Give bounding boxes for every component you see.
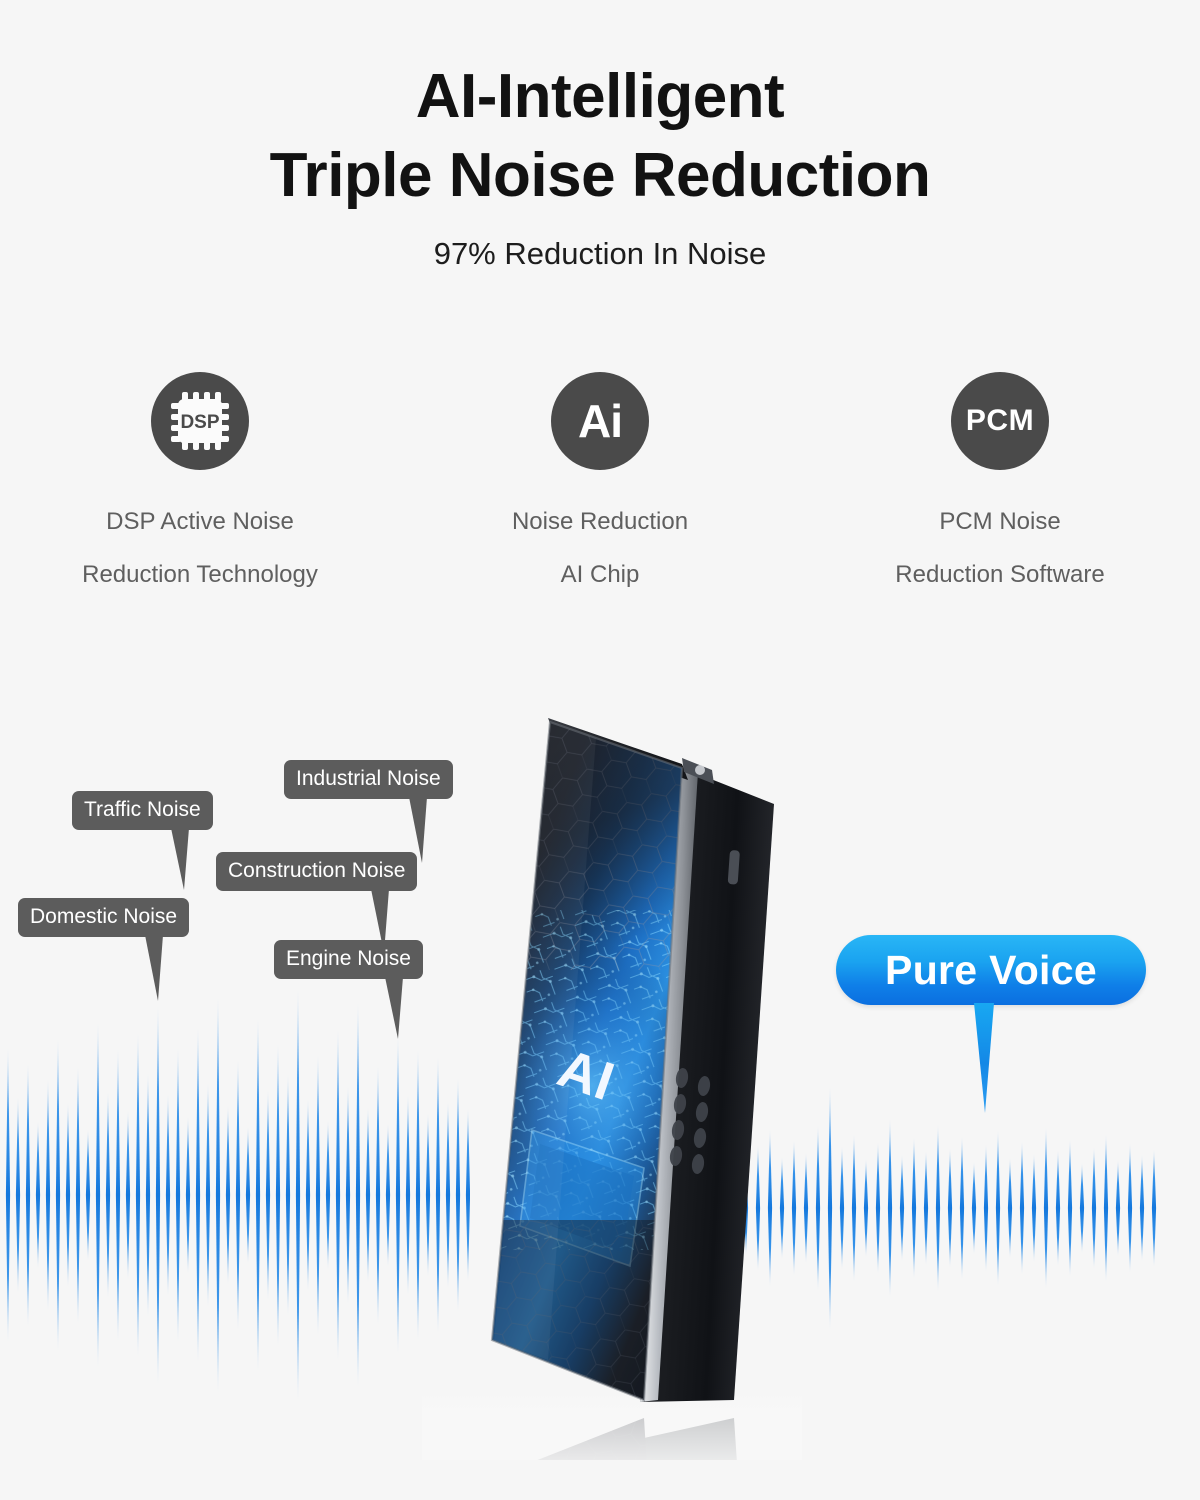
title-line-1: AI-Intelligent <box>416 62 784 131</box>
pure-voice-label: Pure Voice <box>885 947 1097 994</box>
noise-label-bubble: Engine Noise <box>274 940 423 979</box>
feature-pcm: PCM PCM Noise Reduction Software <box>800 372 1200 602</box>
device-button-highlight <box>695 765 705 775</box>
noise-label-text: Industrial Noise <box>296 767 441 790</box>
dsp-chip-icon: DSP <box>151 372 249 470</box>
feature-pcm-label: PCM Noise Reduction Software <box>895 496 1104 602</box>
feature-ai-label: Noise Reduction AI Chip <box>512 496 688 602</box>
noise-label-text: Domestic Noise <box>30 905 177 928</box>
page-title: AI-Intelligent Triple Noise Reduction <box>0 58 1200 215</box>
pure-voice-badge[interactable]: Pure Voice <box>836 935 1146 1005</box>
ai-chip-icon: Ai <box>551 372 649 470</box>
noise-label-tail <box>385 977 425 1039</box>
feature-dsp: DSP DSP Active Noise Reduction Technolog… <box>0 372 400 602</box>
noise-label-bubble: Domestic Noise <box>18 898 189 937</box>
noise-label-text: Traffic Noise <box>84 798 201 821</box>
product-feature-page: AI-Intelligent Triple Noise Reduction 97… <box>0 0 1200 1500</box>
pure-voice-tail <box>972 1003 1008 1115</box>
pcm-icon: PCM <box>951 372 1049 470</box>
pcm-icon-text: PCM <box>966 404 1034 438</box>
noise-label-text: Engine Noise <box>286 947 411 970</box>
dsp-icon-text: DSP <box>180 412 219 433</box>
noise-label-tail <box>171 828 211 890</box>
page-subtitle: 97% Reduction In Noise <box>0 236 1200 272</box>
noise-label-bubble: Traffic Noise <box>72 791 213 830</box>
noise-label-tail <box>409 797 449 863</box>
noise-label-tail <box>145 935 185 1001</box>
title-line-2: Triple Noise Reduction <box>0 137 1200 216</box>
noise-label-bubble: Construction Noise <box>216 852 417 891</box>
feature-ai: Ai Noise Reduction AI Chip <box>400 372 800 602</box>
noise-label-text: Construction Noise <box>228 859 405 882</box>
noise-label-bubble: Industrial Noise <box>284 760 453 799</box>
ai-icon-text: Ai <box>578 394 622 448</box>
feature-row: DSP DSP Active Noise Reduction Technolog… <box>0 372 1200 602</box>
feature-dsp-label: DSP Active Noise Reduction Technology <box>82 496 318 602</box>
